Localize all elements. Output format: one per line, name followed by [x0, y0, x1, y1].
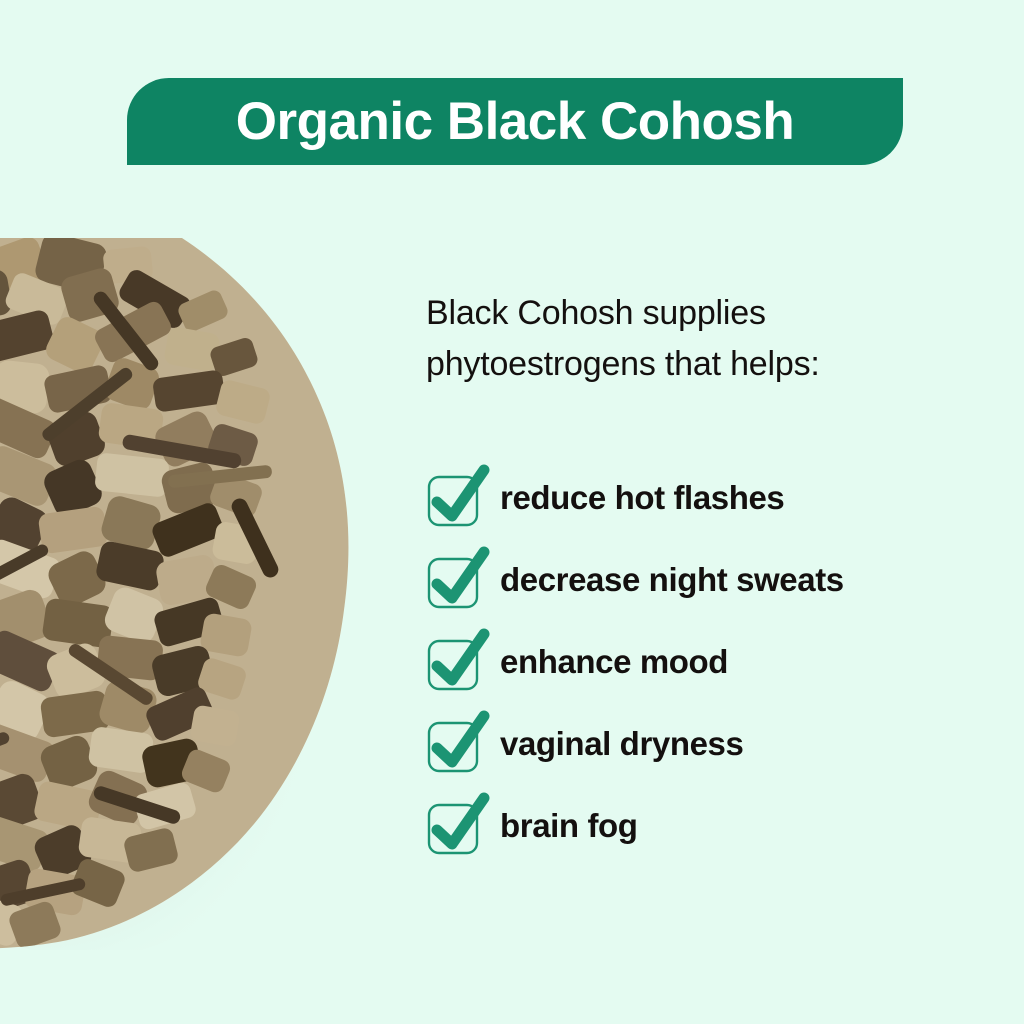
benefit-label: reduce hot flashes [500, 481, 784, 514]
product-infographic: Organic Black Cohosh [0, 0, 1024, 1024]
benefit-label: enhance mood [500, 645, 728, 678]
benefit-label: vaginal dryness [500, 727, 743, 760]
list-item: reduce hot flashes [426, 456, 946, 538]
content-column: Black Cohosh supplies phytoestrogens tha… [426, 288, 946, 390]
page-title: Organic Black Cohosh [236, 95, 794, 148]
checkbox-checked-icon[interactable] [426, 716, 480, 770]
header-banner: Organic Black Cohosh [127, 78, 903, 165]
checkbox-checked-icon[interactable] [426, 552, 480, 606]
product-photo [0, 238, 372, 950]
list-item: brain fog [426, 784, 946, 866]
checkbox-checked-icon[interactable] [426, 634, 480, 688]
benefit-label: decrease night sweats [500, 563, 844, 596]
list-item: decrease night sweats [426, 538, 946, 620]
benefit-list: reduce hot flashes decrease night sweats [426, 456, 946, 866]
checkbox-checked-icon[interactable] [426, 798, 480, 852]
list-item: enhance mood [426, 620, 946, 702]
checkbox-checked-icon[interactable] [426, 470, 480, 524]
intro-paragraph: Black Cohosh supplies phytoestrogens tha… [426, 288, 946, 390]
benefit-label: brain fog [500, 809, 638, 842]
list-item: vaginal dryness [426, 702, 946, 784]
